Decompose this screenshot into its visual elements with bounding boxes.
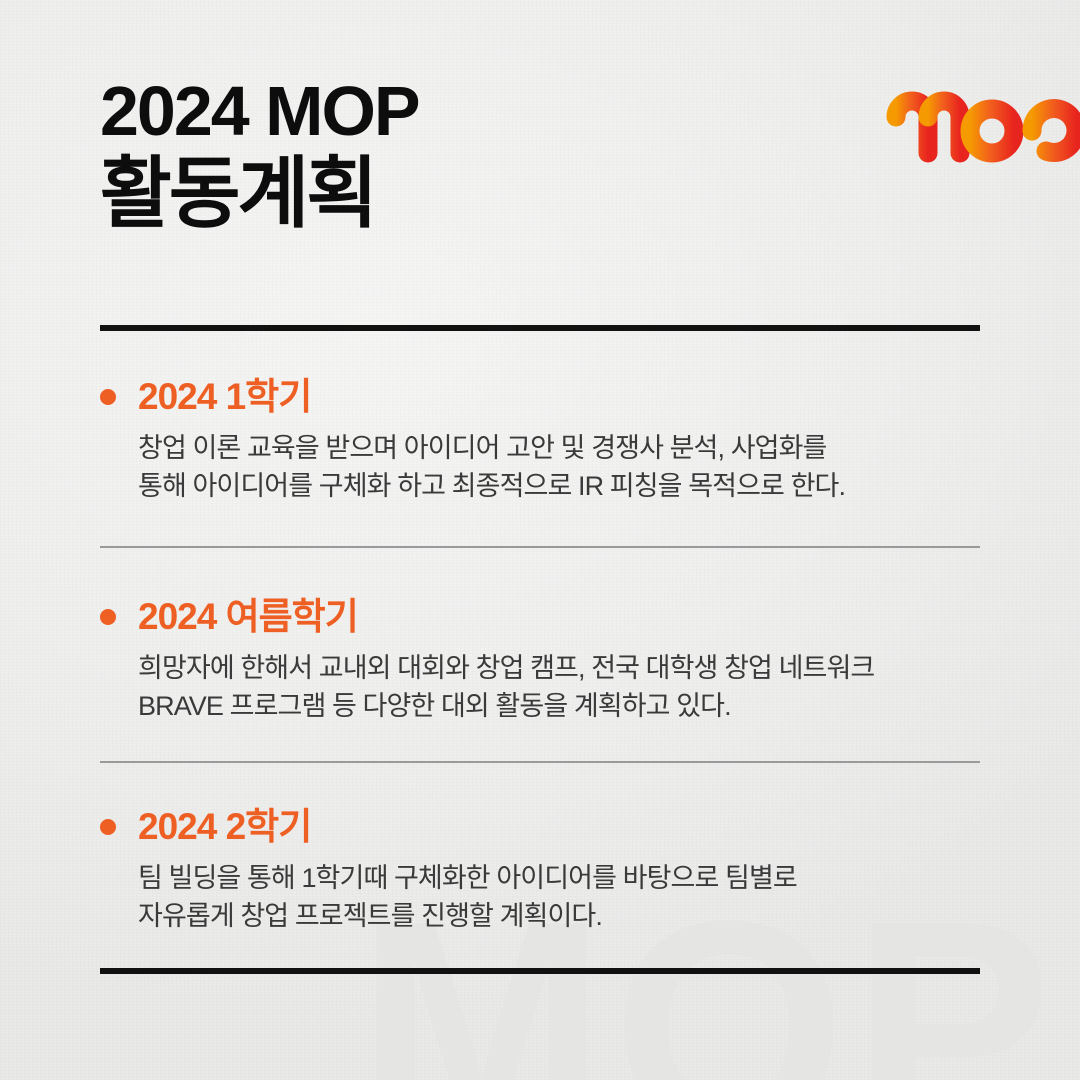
section-body: 창업 이론 교육을 받으며 아이디어 고안 및 경쟁사 분석, 사업화를 통해 … xyxy=(100,429,990,506)
section-heading: 2024 1학기 xyxy=(100,378,990,415)
section-title: 2024 2학기 xyxy=(138,808,311,845)
bullet-icon xyxy=(100,819,116,835)
bullet-icon xyxy=(100,389,116,405)
section-2024-2nd-semester: 2024 2학기 팀 빌딩을 통해 1학기때 구체화한 아이디어를 바탕으로 팀… xyxy=(100,808,990,936)
section-body: 팀 빌딩을 통해 1학기때 구체화한 아이디어를 바탕으로 팀별로 자유롭게 창… xyxy=(100,859,990,936)
section-2024-1st-semester: 2024 1학기 창업 이론 교육을 받으며 아이디어 고안 및 경쟁사 분석,… xyxy=(100,378,990,506)
section-title: 2024 여름학기 xyxy=(138,598,358,635)
page-title: 2024 MOP 활동계획 xyxy=(100,72,980,238)
poster-canvas: MOP 2024 MOP 활동계획 xyxy=(0,0,1080,1080)
divider-section-1 xyxy=(100,546,980,548)
divider-section-2 xyxy=(100,761,980,763)
divider-bottom xyxy=(100,968,980,974)
title-line-2: 활동계획 xyxy=(100,150,980,237)
section-title: 2024 1학기 xyxy=(138,378,311,415)
section-body: 희망자에 한해서 교내외 대회와 창업 캠프, 전국 대학생 창업 네트워크 B… xyxy=(100,649,990,726)
mop-logo xyxy=(880,75,1080,185)
section-heading: 2024 2학기 xyxy=(100,808,990,845)
header: 2024 MOP 활동계획 xyxy=(100,72,980,282)
section-2024-summer-semester: 2024 여름학기 희망자에 한해서 교내외 대회와 창업 캠프, 전국 대학생… xyxy=(100,598,990,726)
title-line-1: 2024 MOP xyxy=(100,72,980,150)
divider-top xyxy=(100,325,980,331)
section-heading: 2024 여름학기 xyxy=(100,598,990,635)
bullet-icon xyxy=(100,609,116,625)
